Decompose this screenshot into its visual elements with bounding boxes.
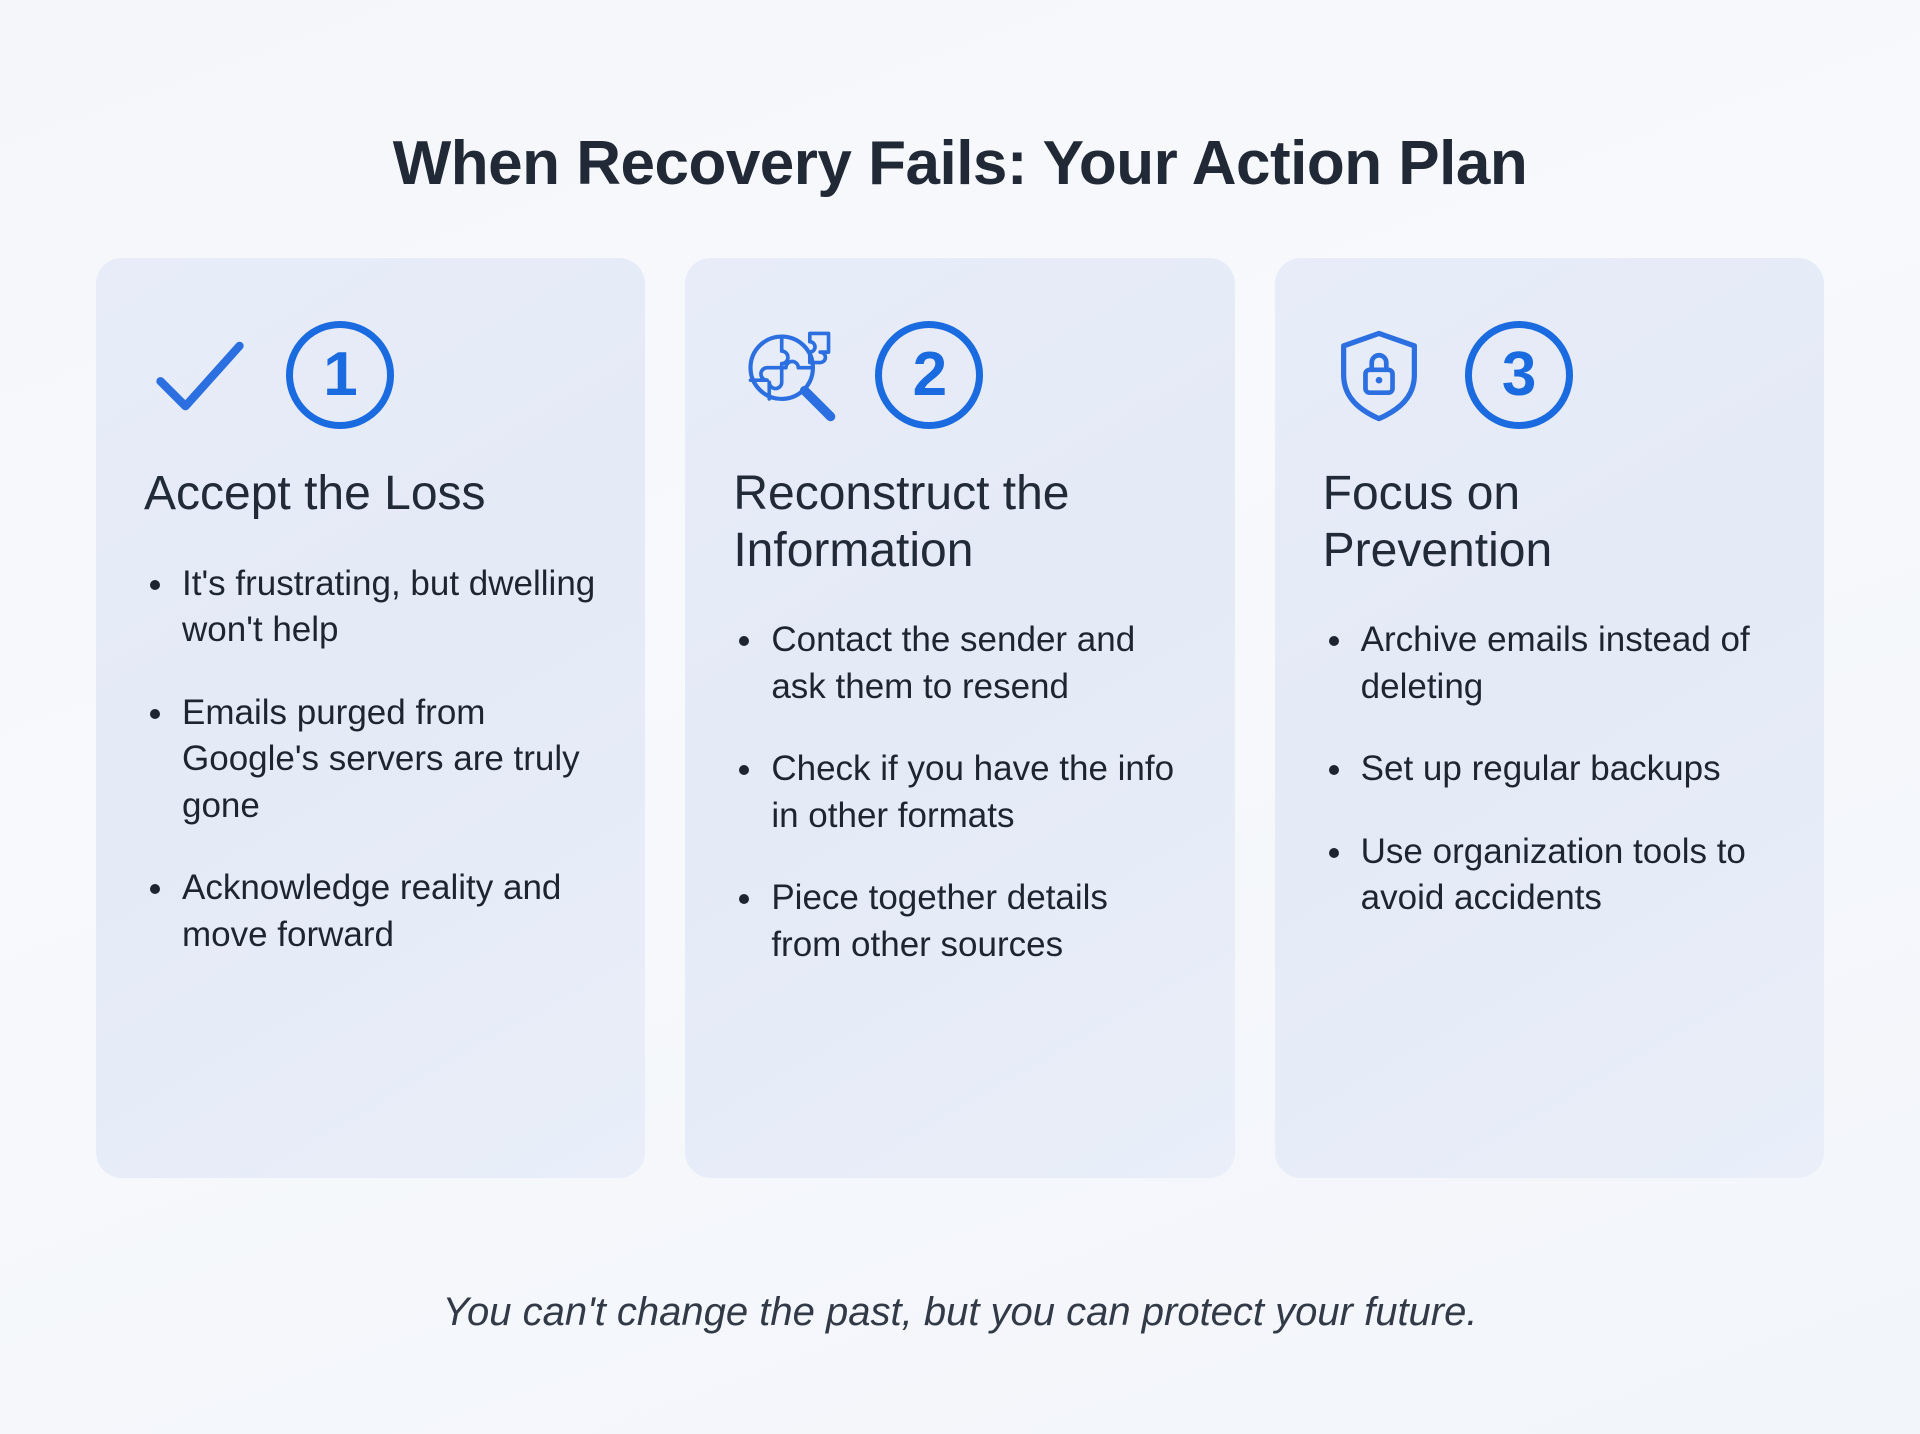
cards-container: 1 Accept the Loss It's frustrating, but … <box>96 258 1824 1178</box>
list-item: Emails purged from Google's servers are … <box>144 690 597 830</box>
footer-note: You can't change the past, but you can p… <box>0 1288 1920 1336</box>
card-bullet-list: Archive emails instead of deleting Set u… <box>1323 617 1776 922</box>
page-title: When Recovery Fails: Your Action Plan <box>0 130 1920 198</box>
shield-lock-icon <box>1323 319 1435 431</box>
infographic-page: When Recovery Fails: Your Action Plan 1 … <box>0 0 1920 1434</box>
card-header: 2 <box>733 310 1186 440</box>
card-title: Focus on Prevention <box>1323 466 1753 579</box>
step-number-badge: 2 <box>875 321 983 429</box>
list-item: Archive emails instead of deleting <box>1323 617 1776 710</box>
step-number-badge: 1 <box>286 321 394 429</box>
card-header: 1 <box>144 310 597 440</box>
card-reconstruct-the-information: 2 Reconstruct the Information Contact th… <box>685 258 1234 1178</box>
list-item: Use organization tools to avoid accident… <box>1323 829 1776 922</box>
puzzle-magnifier-icon <box>733 319 845 431</box>
card-accept-the-loss: 1 Accept the Loss It's frustrating, but … <box>96 258 645 1178</box>
step-number-badge: 3 <box>1465 321 1573 429</box>
card-focus-on-prevention: 3 Focus on Prevention Archive emails ins… <box>1275 258 1824 1178</box>
list-item: Set up regular backups <box>1323 746 1776 793</box>
list-item: Contact the sender and ask them to resen… <box>733 617 1186 710</box>
step-number: 2 <box>913 344 946 406</box>
card-bullet-list: It's frustrating, but dwelling won't hel… <box>144 561 597 959</box>
list-item: It's frustrating, but dwelling won't hel… <box>144 561 597 654</box>
card-header: 3 <box>1323 310 1776 440</box>
list-item: Piece together details from other source… <box>733 875 1186 968</box>
step-number: 3 <box>1502 344 1535 406</box>
card-title: Accept the Loss <box>144 466 574 523</box>
list-item: Check if you have the info in other form… <box>733 746 1186 839</box>
card-bullet-list: Contact the sender and ask them to resen… <box>733 617 1186 968</box>
list-item: Acknowledge reality and move forward <box>144 865 597 958</box>
card-title: Reconstruct the Information <box>733 466 1163 579</box>
checkmark-icon <box>144 319 256 431</box>
step-number: 1 <box>323 344 356 406</box>
